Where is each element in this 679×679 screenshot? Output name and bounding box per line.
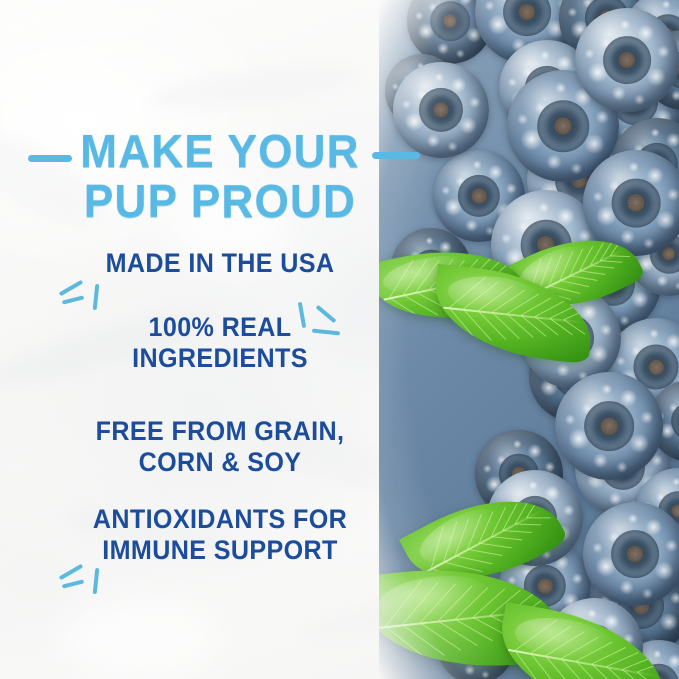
leaf-vein [449,308,479,343]
sparkle-icon [58,272,114,322]
sparkle-stroke [93,284,100,310]
leaf-vein [559,280,588,288]
sparkle-stroke [93,568,100,594]
calyx-ray [621,56,633,64]
leaf-vein [455,619,493,642]
leaf-vein [503,530,532,533]
blueberry [555,372,663,480]
leaf-vein [477,311,506,341]
calyx-ray [603,421,615,430]
leaf-vein [570,275,598,281]
calyx-ray [630,549,640,559]
sparkle-stroke [62,579,84,588]
sparkle-stroke [312,329,340,336]
calyx-ray [557,121,568,131]
claim-line: MADE IN THE USA [106,248,335,278]
calyx-ray [621,59,633,61]
calyx-ray [630,199,642,207]
calyx-ray [607,419,610,432]
leaf-vein [637,661,665,672]
copy-column: MAKE YOUR PUP PROUD MADE IN THE USA 100%… [0,0,440,679]
leaf-vein [527,517,551,518]
calyx-ray [632,197,640,209]
calyx-ray [560,119,566,132]
calyx-ray [635,197,637,210]
calyx-ray [632,197,640,209]
leaf-vein [467,549,502,556]
calyx-ray [556,124,570,129]
product-feature-poster: MAKE YOUR PUP PROUD MADE IN THE USA 100%… [0,0,679,679]
sparkle-stroke [298,302,306,328]
calyx-ray [633,548,638,561]
calyx-ray [621,56,633,64]
calyx-ray [632,548,637,560]
calyx-ray [629,552,642,557]
claim-line: FREE FROM GRAIN, [15,416,424,447]
calyx-ray [630,202,643,204]
calyx-ray [623,54,631,66]
calyx-ray [561,119,566,133]
berry-calyx [537,100,589,152]
leaf-vein [611,255,631,257]
calyx-ray [440,104,442,115]
calyx-ray [604,420,613,432]
calyx-ray [556,123,569,129]
sparkle-stroke [316,305,337,323]
sparkle-stroke [59,564,84,580]
leaf-vein [463,309,492,341]
calyx-ray [630,199,642,207]
claim-line: ANTIOXIDANTS FOR [15,504,424,535]
calyx-ray [629,551,641,556]
calyx-ray [626,54,628,66]
calyx-ray [630,549,640,559]
berry-calyx [611,530,659,578]
berry-calyx [603,36,651,84]
headline-line-2: PUP PROUD [9,178,431,224]
calyx-ray [558,120,568,131]
blueberry [583,502,679,606]
berry-calyx [612,179,661,228]
leaf-vein [580,270,606,275]
leaf-vein [491,536,522,541]
claim-line: CORN & SOY [15,447,424,478]
claim-free-from: FREE FROM GRAIN, CORN & SOY [15,416,424,478]
leaf-vein [437,621,477,647]
sparkle-stroke [62,295,84,304]
leaf-vein [479,543,512,549]
calyx-ray [605,420,612,433]
leaf-vein [600,260,622,263]
calyx-ray [603,422,616,429]
claim-line: INGREDIENTS [15,343,424,374]
leaf-vein [455,555,492,564]
headline-line-1: MAKE YOUR [9,128,431,174]
calyx-ray [602,424,615,427]
calyx-ray [623,54,631,66]
sparkle-icon [298,300,354,350]
sparkle-icon [58,556,114,606]
berry-calyx [584,401,634,451]
sparkle-stroke [59,280,84,296]
leaf-vein [515,524,541,526]
blueberry [575,8,679,112]
page-title: MAKE YOUR PUP PROUD [9,128,431,224]
leaf-vein [590,265,614,269]
